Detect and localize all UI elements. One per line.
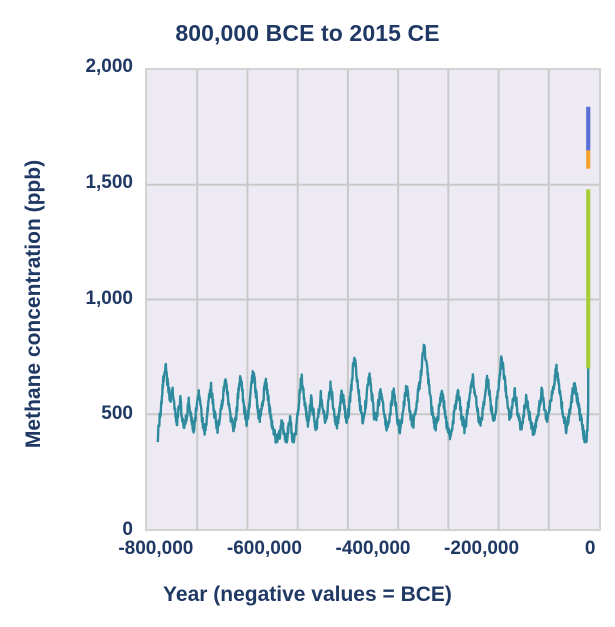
series-line: [158, 345, 588, 443]
y-tick-label: 1,000: [0, 288, 133, 310]
x-axis-label: Year (negative values = BCE): [0, 583, 615, 607]
y-tick-label: 1,500: [0, 172, 133, 194]
x-tick-label: -800,000: [118, 538, 193, 560]
y-tick-label: 2,000: [0, 56, 133, 78]
x-tick-label: -600,000: [227, 538, 302, 560]
y-tick-label: 0: [0, 519, 133, 541]
y-tick-label: 500: [0, 403, 133, 425]
x-tick-label: -400,000: [335, 538, 410, 560]
methane-chart-figure: 800,000 BCE to 2015 CE Methane concentra…: [0, 0, 615, 627]
x-tick-label: 0: [585, 538, 596, 560]
x-tick-label: -200,000: [444, 538, 519, 560]
data-series-layer: [147, 70, 599, 529]
plot-area: [145, 68, 601, 531]
chart-title: 800,000 BCE to 2015 CE: [0, 20, 615, 47]
